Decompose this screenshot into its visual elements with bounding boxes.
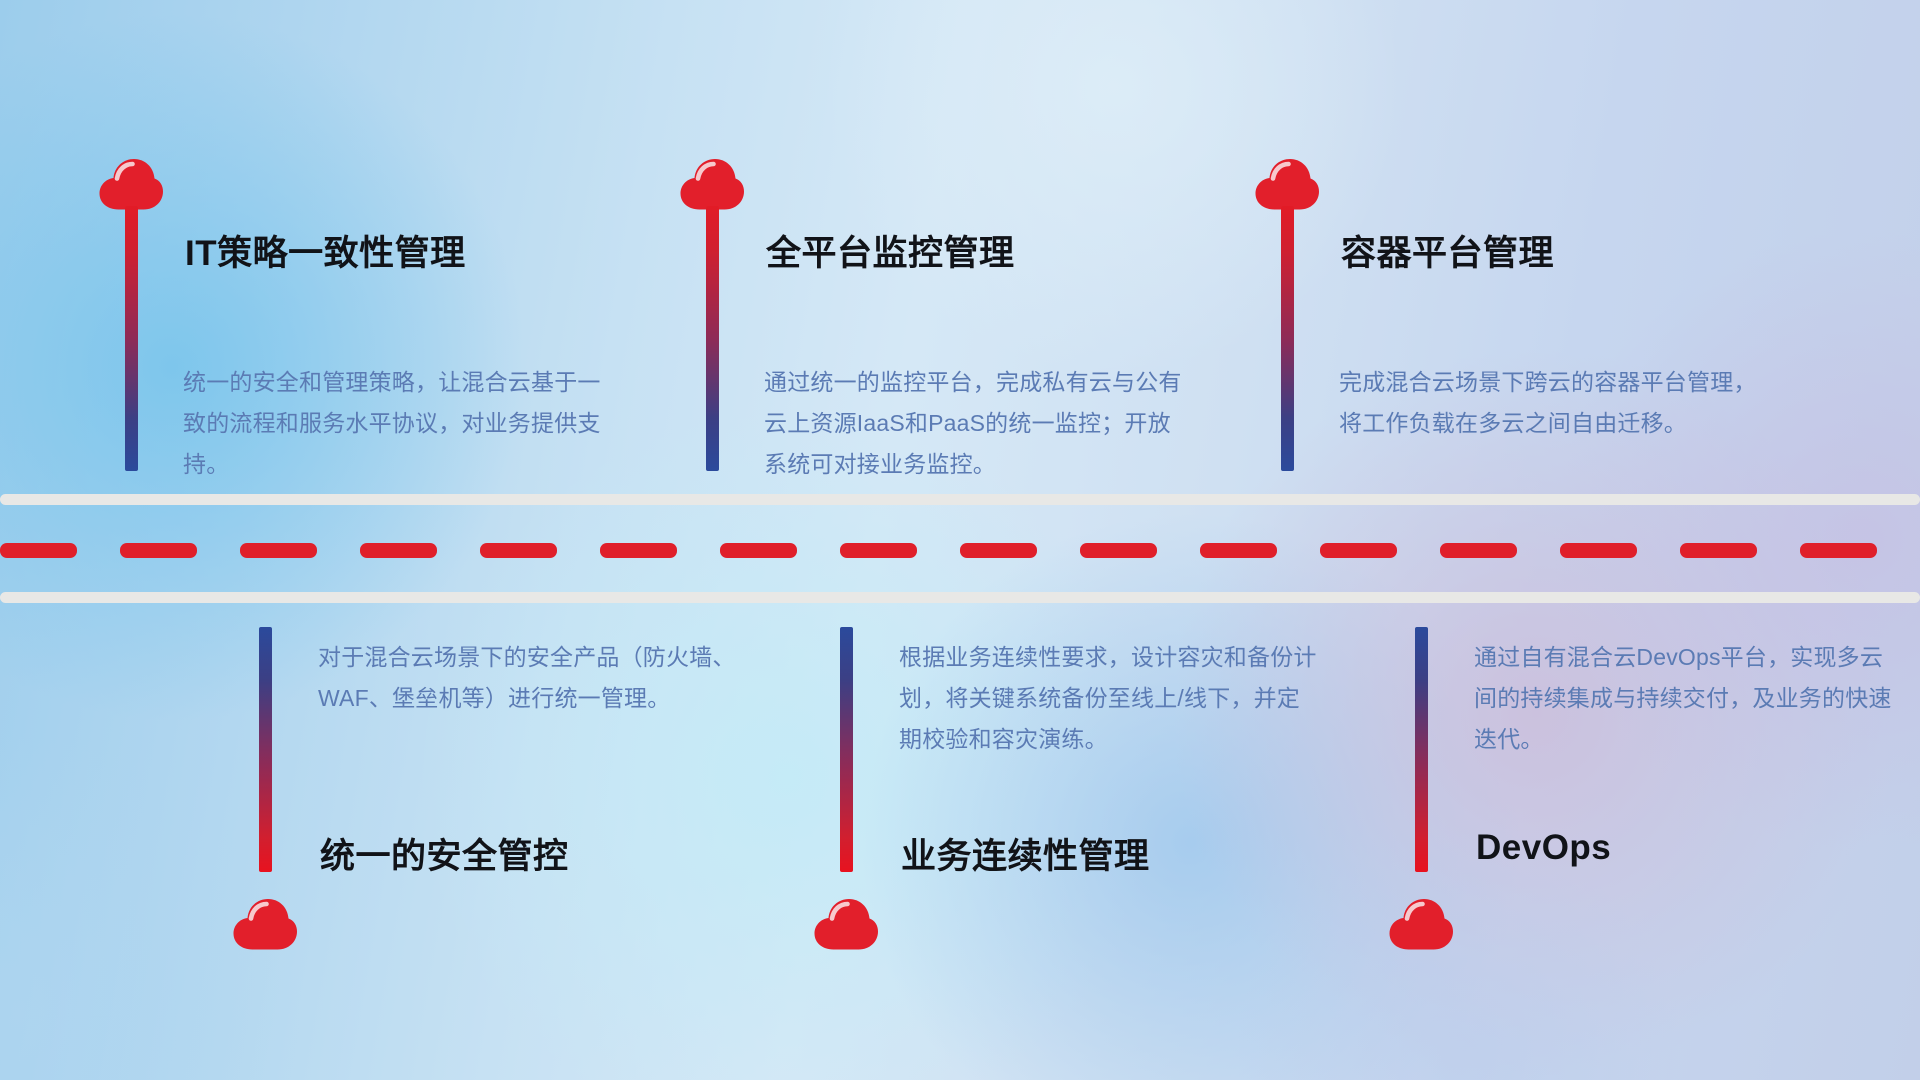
cloud-icon — [232, 898, 298, 950]
road-dash — [840, 543, 917, 558]
road-line-upper — [0, 494, 1920, 505]
road-dash — [120, 543, 197, 558]
milestone-title-full-platform-monitoring: 全平台监控管理 — [766, 225, 1015, 276]
milestone-body-full-platform-monitoring: 通过统一的监控平台，完成私有云与公有云上资源IaaS和PaaS的统一监控；开放系… — [764, 362, 1184, 485]
connector-stem — [840, 627, 853, 872]
milestone-title-business-continuity: 业务连续性管理 — [901, 828, 1150, 879]
connector-stem — [125, 206, 138, 471]
road-dash — [1200, 543, 1277, 558]
connector-stem — [1415, 627, 1428, 872]
milestone-body-devops: 通过自有混合云DevOps平台，实现多云间的持续集成与持续交付，及业务的快速迭代… — [1474, 637, 1894, 760]
milestone-body-it-policy-consistency: 统一的安全和管理策略，让混合云基于一致的流程和服务水平协议，对业务提供支持。 — [183, 362, 603, 485]
road-dash — [960, 543, 1037, 558]
road-dash — [1560, 543, 1637, 558]
infographic-canvas: IT策略一致性管理 统一的安全和管理策略，让混合云基于一致的流程和服务水平协议，… — [0, 0, 1920, 1080]
road-dash — [720, 543, 797, 558]
milestone-title-container-platform: 容器平台管理 — [1341, 225, 1554, 276]
milestone-title-devops: DevOps — [1476, 828, 1611, 868]
road-dash — [1440, 543, 1517, 558]
road-dash — [1320, 543, 1397, 558]
road-dash — [600, 543, 677, 558]
cloud-icon — [98, 158, 164, 210]
cloud-icon — [679, 158, 745, 210]
cloud-icon — [813, 898, 879, 950]
connector-stem — [1281, 206, 1294, 471]
road-dash — [240, 543, 317, 558]
road-center-dashes — [0, 543, 1920, 558]
road-dash — [1080, 543, 1157, 558]
cloud-icon — [1254, 158, 1320, 210]
milestone-body-unified-security: 对于混合云场景下的安全产品（防火墙、WAF、堡垒机等）进行统一管理。 — [318, 637, 738, 719]
road-dash — [360, 543, 437, 558]
milestone-body-business-continuity: 根据业务连续性要求，设计容灾和备份计划，将关键系统备份至线上/线下，并定期校验和… — [899, 637, 1319, 760]
milestone-title-unified-security: 统一的安全管控 — [320, 828, 569, 879]
road-dash — [480, 543, 557, 558]
cloud-icon — [1388, 898, 1454, 950]
road-dash — [1680, 543, 1757, 558]
road-line-lower — [0, 592, 1920, 603]
connector-stem — [706, 206, 719, 471]
road-dash — [1800, 543, 1877, 558]
connector-stem — [259, 627, 272, 872]
milestone-body-container-platform: 完成混合云场景下跨云的容器平台管理，将工作负载在多云之间自由迁移。 — [1339, 362, 1759, 444]
road-dash — [0, 543, 77, 558]
milestone-title-it-policy-consistency: IT策略一致性管理 — [185, 225, 466, 276]
